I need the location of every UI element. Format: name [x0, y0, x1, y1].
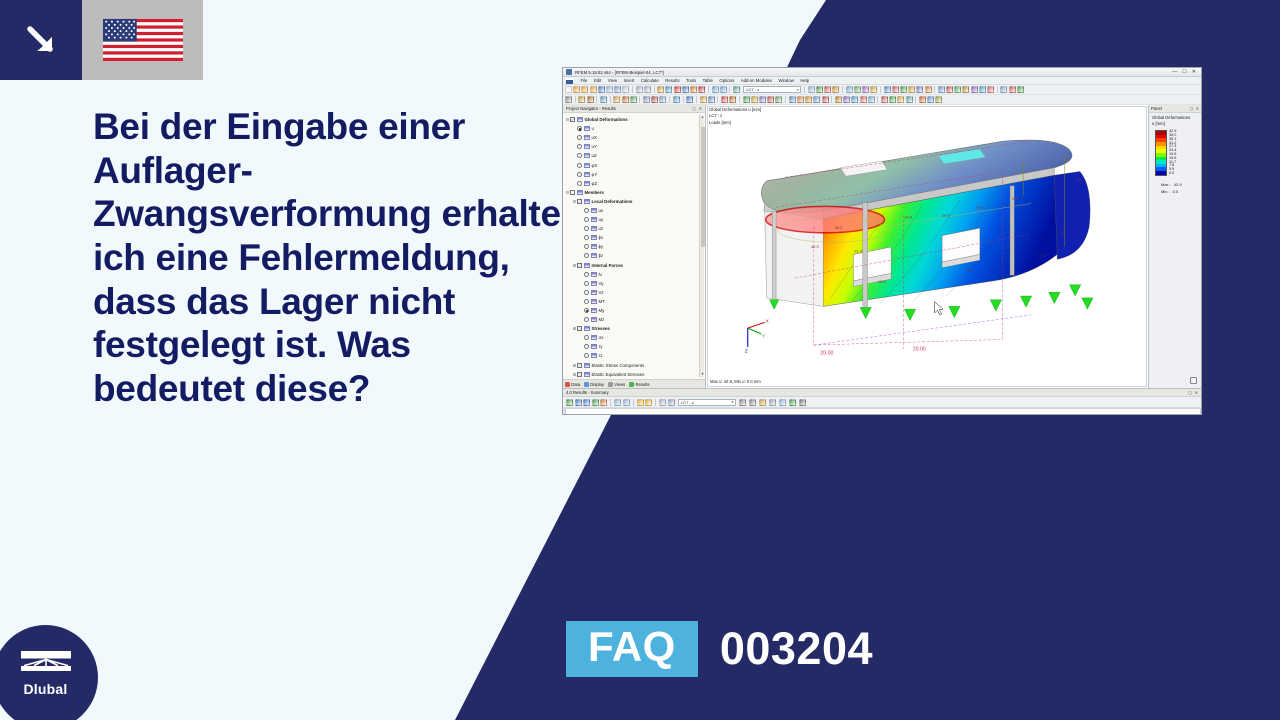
toolbar-button-icon[interactable] [565, 86, 572, 93]
toolbar-separator [610, 96, 611, 103]
tree-item-label: φY [592, 172, 598, 177]
tree-radio[interactable] [584, 344, 589, 349]
surface-icon [584, 153, 590, 158]
deformation-contour-model[interactable]: 20.00 20.00 38.3 34.6 29.9 28.2 16.1 3.4… [706, 113, 1148, 363]
tree-item--y[interactable]: ϕy [565, 242, 705, 251]
toolbar-button-icon[interactable] [908, 86, 915, 93]
window-title: RFEM 5.18.02 x64 - [RFEM-Beispiel-04, LC… [575, 70, 1172, 75]
table-close-icon[interactable]: ✕ [1195, 390, 1198, 395]
member-icon [584, 263, 590, 268]
scroll-down-arrow[interactable]: ▼ [700, 372, 705, 377]
results-table-header: 4.0 Results - Summary ◻ ✕ [563, 389, 1201, 397]
toolbar-button-icon[interactable] [987, 86, 994, 93]
tree-item--x[interactable]: ϕx [565, 233, 705, 242]
table-toolbar-button-icon[interactable] [637, 399, 644, 406]
toolbar-button-icon[interactable] [682, 86, 689, 93]
table-cells[interactable] [566, 408, 1201, 415]
toolbar-button-icon[interactable] [884, 86, 891, 93]
navigator-close-icon[interactable]: ✕ [699, 106, 702, 111]
toolbar-button-icon[interactable] [690, 86, 697, 93]
chevron-down-icon[interactable]: ▼ [796, 88, 799, 92]
tree-item--y[interactable]: φY [565, 170, 705, 179]
member-icon [591, 235, 597, 240]
surface-icon [584, 163, 590, 168]
tree-item-u[interactable]: u [565, 124, 705, 133]
force-icon [591, 308, 597, 313]
tree-radio[interactable] [584, 299, 589, 304]
panel-close-icon[interactable]: ✕ [1196, 106, 1199, 111]
tree-item-label: Elastic Equivalent Stresses [592, 372, 645, 377]
tree-radio[interactable] [577, 172, 582, 177]
tree-item-local-deformations[interactable]: ⊟Local Deformations [565, 197, 705, 206]
toolbar-button-icon[interactable] [824, 86, 831, 93]
tree-item--z[interactable]: ϕz [565, 251, 705, 260]
tree-item-label: Local Deformations [592, 199, 633, 204]
window-titlebar: RFEM 5.18.02 x64 - [RFEM-Beispiel-04, LC… [563, 68, 1201, 77]
tree-radio-selected[interactable] [577, 126, 582, 131]
svg-text:16.1: 16.1 [1012, 196, 1020, 201]
svg-text:38.3: 38.3 [835, 225, 843, 230]
toolbar-button-icon[interactable] [946, 86, 953, 93]
toolbar-button-icon[interactable] [938, 86, 945, 93]
tree-item-vy[interactable]: Vy [565, 279, 705, 288]
tree-checkbox[interactable] [577, 372, 582, 377]
member-icon [591, 208, 597, 213]
toolbar-button-icon[interactable] [889, 96, 896, 103]
svg-text:28.2: 28.2 [976, 205, 984, 210]
toolbar-button-icon[interactable] [657, 86, 664, 93]
toolbar-button-icon[interactable] [1017, 86, 1024, 93]
toolbar-separator [997, 86, 998, 93]
tree-item-global-deformations[interactable]: ⊟✓Global Deformations [565, 115, 705, 124]
window-controls[interactable]: — ☐ ✕ [1172, 70, 1196, 75]
toolbar-button-icon[interactable] [673, 96, 680, 103]
mouse-cursor [935, 302, 943, 315]
toolbar-separator [842, 86, 843, 93]
toolbar-loadcase-value: LC7 - z [746, 87, 759, 92]
toolbar-button-icon[interactable] [816, 86, 823, 93]
toolbar-separator [696, 96, 697, 103]
maximize-button[interactable]: ☐ [1182, 70, 1186, 75]
legend-scale: 42.939.035.131.227.323.419.515.611.77.83… [1149, 127, 1201, 176]
tree-radio[interactable] [584, 244, 589, 249]
member-icon [577, 190, 583, 195]
results-table-panel: 4.0 Results - Summary ◻ ✕ LC7 - z ▼ [563, 388, 1201, 415]
results-panel: Panel ◻ ✕ Global Deformations u [mm] 42.… [1149, 105, 1201, 388]
toolbar-separator [654, 86, 655, 93]
tree-item--z[interactable]: τz [565, 351, 705, 360]
toolbar-primary[interactable]: LC7 - z▼ [563, 85, 1201, 95]
navigator-tab-label: Display [590, 382, 604, 387]
toolbar-button-icon[interactable] [843, 96, 850, 103]
views-tab-icon [608, 382, 613, 387]
svg-text:9.3: 9.3 [967, 267, 973, 272]
tree-checkbox[interactable] [577, 263, 582, 268]
tree-radio[interactable] [584, 226, 589, 231]
tree-radio[interactable] [584, 290, 589, 295]
toolbar-button-icon[interactable] [573, 86, 580, 93]
menu-item-calculate[interactable]: Calculate [641, 78, 659, 83]
scroll-up-arrow[interactable]: ▲ [700, 115, 705, 120]
svg-text:40.9: 40.9 [811, 244, 819, 249]
tree-checkbox[interactable] [577, 363, 582, 368]
toolbar-button-icon[interactable] [622, 86, 629, 93]
table-pin-icon[interactable]: ◻ [1188, 390, 1191, 395]
toolbar-button-icon[interactable] [846, 86, 853, 93]
table-toolbar-button-icon[interactable] [614, 399, 621, 406]
toolbar-separator [655, 399, 656, 406]
navigator-tab-display[interactable]: Display [584, 382, 604, 387]
toolbar-button-icon[interactable] [851, 96, 858, 103]
tree-radio-selected[interactable] [584, 308, 589, 313]
close-button[interactable]: ✕ [1192, 70, 1196, 75]
toolbar-button-icon[interactable] [835, 96, 842, 103]
tree-item-label: Global Deformations [585, 117, 628, 122]
toolbar-button-icon[interactable] [578, 96, 585, 103]
toolbar-button-icon[interactable] [900, 86, 907, 93]
tree-item-uz[interactable]: uz [565, 224, 705, 233]
tree-item-internal-forces[interactable]: ⊞Internal Forces [565, 261, 705, 270]
tree-radio[interactable] [584, 253, 589, 258]
tree-item--x[interactable]: φX [565, 160, 705, 169]
force-icon [591, 272, 597, 277]
tree-item-my[interactable]: My [565, 306, 705, 315]
toolbar-button-icon[interactable] [743, 96, 750, 103]
toolbar-button-icon[interactable] [613, 96, 620, 103]
tree-item-label: Members [585, 190, 604, 195]
surface-icon [584, 135, 590, 140]
navigator-tab-data[interactable]: Data [565, 382, 580, 387]
menu-item-options[interactable]: Options [719, 78, 734, 83]
deformation-outline [814, 315, 1031, 345]
tree-item--z[interactable]: φZ [565, 179, 705, 188]
toolbar-button-icon[interactable] [665, 86, 672, 93]
tree-radio[interactable] [584, 208, 589, 213]
toolbar-button-icon[interactable] [808, 86, 815, 93]
table-toolbar-nav-icon[interactable] [789, 399, 796, 406]
toolbar-button-icon[interactable] [614, 86, 621, 93]
table-toolbar-nav-icon[interactable] [769, 399, 776, 406]
table-toolbar-button-icon[interactable] [600, 399, 607, 406]
tree-item-vz[interactable]: Vz [565, 288, 705, 297]
toolbar-button-icon[interactable] [979, 86, 986, 93]
navigator-title: Project Navigator - Results [566, 106, 616, 111]
table-toolbar-nav-icon[interactable] [739, 399, 746, 406]
table-toolbar-nav-icon[interactable] [749, 399, 756, 406]
minimize-button[interactable]: — [1172, 70, 1177, 75]
svg-text:21.4: 21.4 [854, 249, 862, 254]
toolbar-button-icon[interactable] [925, 86, 932, 93]
toolbar-separator [785, 96, 786, 103]
table-toolbar-nav-icon[interactable] [799, 399, 806, 406]
toolbar-button-icon[interactable] [860, 96, 867, 103]
toolbar-button-icon[interactable] [636, 86, 643, 93]
force-icon [591, 299, 597, 304]
toolbar-separator [632, 86, 633, 93]
tree-item-ux[interactable]: ux [565, 206, 705, 215]
tree-item-uy[interactable]: uy [565, 215, 705, 224]
results-table-loadcase-value: LC7 - z [681, 400, 694, 405]
navigator-tree[interactable]: ⊟✓Global DeformationsuuXuYuZφXφYφZ⊟Membe… [563, 113, 705, 379]
table-toolbar-button-icon[interactable] [575, 399, 582, 406]
results-table-title: 4.0 Results - Summary [566, 390, 609, 395]
tree-item-label: My [599, 308, 605, 313]
tree-checkbox[interactable] [577, 199, 582, 204]
navigator-tab-label: Views [614, 382, 625, 387]
toolbar-button-icon[interactable] [698, 86, 705, 93]
menu-logo-icon [566, 78, 573, 84]
menu-item-tools[interactable]: Tools [686, 78, 696, 83]
toolbar-button-icon[interactable] [1009, 86, 1016, 93]
table-toolbar-button-icon[interactable] [592, 399, 599, 406]
legend-min-value: 0.0 [1173, 188, 1179, 195]
toolbar-button-icon[interactable] [1000, 86, 1007, 93]
tree-radio[interactable] [584, 217, 589, 222]
dlubal-truss-icon [20, 650, 72, 678]
toolbar-button-icon[interactable] [822, 96, 829, 103]
toolbar-button-icon[interactable] [881, 96, 888, 103]
tree-checkbox[interactable] [570, 190, 575, 195]
legend-max-value: 42.9 [1174, 181, 1182, 188]
toolbar-button-icon[interactable] [686, 96, 693, 103]
toolbar-button-icon[interactable] [935, 96, 942, 103]
page-title: Bei der Eingabe einer Auflager-Zwangsver… [93, 105, 563, 411]
navigator-tab-label: Results [635, 382, 649, 387]
toolbar-separator [596, 96, 597, 103]
menu-item-results[interactable]: Results [665, 78, 679, 83]
toolbar-separator [633, 399, 634, 406]
toolbar-separator [934, 86, 935, 93]
tree-radio[interactable] [584, 353, 589, 358]
table-toolbar-button-icon[interactable] [659, 399, 666, 406]
force-icon [591, 281, 597, 286]
toolbar-button-icon[interactable] [600, 96, 607, 103]
toolbar-button-icon[interactable] [962, 86, 969, 93]
toolbar-button-icon[interactable] [767, 96, 774, 103]
toolbar-button-icon[interactable] [622, 96, 629, 103]
navigator-header-buttons[interactable]: ◻ ✕ [692, 106, 702, 111]
tree-radio[interactable] [577, 163, 582, 168]
menu-item-window[interactable]: Window [779, 78, 794, 83]
toolbar-button-icon[interactable] [862, 86, 869, 93]
toolbar-button-icon[interactable] [906, 96, 913, 103]
toolbar-button-icon[interactable] [721, 96, 728, 103]
navigator-pin-icon[interactable]: ◻ [692, 106, 695, 111]
legend-color-segment [1156, 171, 1166, 175]
panel-pin-icon[interactable]: ◻ [1190, 106, 1193, 111]
toolbar-button-icon[interactable] [720, 86, 727, 93]
toolbar-button-icon[interactable] [870, 86, 877, 93]
member-icon [584, 326, 590, 331]
toolbar-button-icon[interactable] [606, 86, 613, 93]
toolbar-button-icon[interactable] [643, 96, 650, 103]
toolbar-button-icon[interactable] [854, 86, 861, 93]
toolbar-button-icon[interactable] [797, 96, 804, 103]
tree-item-stresses[interactable]: ⊞Stresses [565, 324, 705, 333]
surface-icon [584, 144, 590, 149]
scroll-thumb[interactable] [701, 127, 705, 247]
tree-item-uz[interactable]: uZ [565, 151, 705, 160]
toolbar-button-icon[interactable] [916, 86, 923, 93]
tree-radio[interactable] [584, 235, 589, 240]
toolbar-separator [915, 96, 916, 103]
toolbar-button-icon[interactable] [832, 86, 839, 93]
tree-item-label: uZ [592, 153, 597, 158]
menu-item-addon-modules[interactable]: Add-on Modules [741, 78, 772, 83]
table-toolbar-button-icon[interactable] [566, 399, 573, 406]
member-icon [584, 372, 590, 377]
menu-item-view[interactable]: View [608, 78, 617, 83]
tree-item-ux[interactable]: uX [565, 133, 705, 142]
menu-item-file[interactable]: File [581, 78, 588, 83]
tree-checkbox-checked[interactable]: ✓ [570, 117, 575, 122]
tree-item-label: φX [592, 163, 598, 168]
toolbar-button-icon[interactable] [565, 96, 572, 103]
legend-tick-labels: 42.939.035.131.227.323.419.515.611.77.83… [1169, 130, 1176, 176]
results-table-toolbar[interactable]: LC7 - z ▼ [563, 397, 1201, 408]
results-table-grid[interactable] [563, 408, 1201, 415]
axis-x-label: X [766, 318, 770, 323]
menubar[interactable]: File Edit View Insert Calculate Results … [563, 77, 1201, 85]
toolbar-button-icon[interactable] [630, 96, 637, 103]
menu-item-table[interactable]: Table [703, 78, 713, 83]
tree-item-n[interactable]: N [565, 270, 705, 279]
tree-radio[interactable] [577, 153, 582, 158]
tree-item-elastic-equivalent-stresses[interactable]: ⊞Elastic Equivalent Stresses [565, 370, 705, 379]
tree-item-label: u [592, 126, 594, 131]
surface-icon [584, 172, 590, 177]
tree-radio[interactable] [584, 281, 589, 286]
toolbar-button-icon[interactable] [712, 86, 719, 93]
panel-header-buttons[interactable]: ◻ ✕ [1190, 106, 1199, 111]
tree-item-label: uz [599, 226, 604, 231]
toolbar-button-icon[interactable] [805, 96, 812, 103]
model-viewport[interactable]: Global Deformations u [mm] LC7 : z Loads… [706, 105, 1149, 388]
dimension-label-1: 20.00 [820, 351, 833, 357]
toolbar-button-icon[interactable] [927, 96, 934, 103]
toolbar-button-icon[interactable] [759, 96, 766, 103]
navigator-tab-views[interactable]: Views [608, 382, 625, 387]
toolbar-button-icon[interactable] [659, 96, 666, 103]
toolbar-button-icon[interactable] [598, 86, 605, 93]
tree-radio[interactable] [577, 144, 582, 149]
toolbar-separator [683, 96, 684, 103]
toolbar-button-icon[interactable] [651, 96, 658, 103]
toolbar-loadcase-combo[interactable]: LC7 - z▼ [743, 86, 801, 93]
dlubal-wordmark: Dlubal [24, 681, 68, 697]
toolbar-button-icon[interactable] [733, 86, 740, 93]
app-icon [566, 69, 572, 75]
tree-item-uy[interactable]: uY [565, 142, 705, 151]
tree-item--y[interactable]: τy [565, 342, 705, 351]
table-toolbar-button-icon[interactable] [668, 399, 675, 406]
tree-item--x[interactable]: σx [565, 333, 705, 342]
tree-item-label: Mz [599, 317, 605, 322]
table-toolbar-button-icon[interactable] [623, 399, 630, 406]
toolbar-button-icon[interactable] [700, 96, 707, 103]
tree-radio[interactable] [584, 335, 589, 340]
toolbar-button-icon[interactable] [868, 96, 875, 103]
rfem-application-window: RFEM 5.18.02 x64 - [RFEM-Beispiel-04, LC… [562, 67, 1202, 415]
toolbar-button-icon[interactable] [789, 96, 796, 103]
tree-item-label: Stresses [592, 326, 610, 331]
tree-item-label: ϕx [599, 235, 604, 240]
table-toolbar-button-icon[interactable] [583, 399, 590, 406]
tree-item-label: σx [599, 335, 604, 340]
toolbar-secondary[interactable] [563, 95, 1201, 105]
menu-item-help[interactable]: Help [800, 78, 809, 83]
tree-radio[interactable] [577, 181, 582, 186]
tree-item-members[interactable]: ⊟Members [565, 188, 705, 197]
toolbar-button-icon[interactable] [587, 96, 594, 103]
toolbar-button-icon[interactable] [644, 86, 651, 93]
toolbar-button-icon[interactable] [674, 86, 681, 93]
tree-item-label: τy [599, 344, 603, 349]
svg-text:29.9: 29.9 [942, 213, 950, 218]
table-toolbar-button-icon[interactable] [645, 399, 652, 406]
toolbar-button-icon[interactable] [813, 96, 820, 103]
display-tab-icon [584, 382, 589, 387]
toolbar-button-icon[interactable] [708, 96, 715, 103]
toolbar-button-icon[interactable] [590, 86, 597, 93]
toolbar-separator [877, 96, 878, 103]
toolbar-button-icon[interactable] [954, 86, 961, 93]
toolbar-button-icon[interactable] [892, 86, 899, 93]
table-toolbar-nav-icon[interactable] [779, 399, 786, 406]
toolbar-separator [880, 86, 881, 93]
menu-item-edit[interactable]: Edit [594, 78, 601, 83]
navigator-scrollbar[interactable]: ▲ ▼ [699, 115, 704, 377]
force-icon [591, 317, 597, 322]
toolbar-button-icon[interactable] [729, 96, 736, 103]
tree-item-mt[interactable]: MT [565, 297, 705, 306]
menu-item-insert[interactable]: Insert [624, 78, 635, 83]
toolbar-button-icon[interactable] [775, 96, 782, 103]
legend-min-label: Min : [1161, 188, 1170, 195]
tree-item-label: ϕz [599, 253, 604, 258]
axis-z-label: Z [745, 349, 748, 354]
toolbar-button-icon[interactable] [897, 96, 904, 103]
usa-flag-icon [82, 0, 203, 80]
results-table-loadcase-combo[interactable]: LC7 - z ▼ [678, 399, 736, 406]
results-table-header-buttons[interactable]: ◻ ✕ [1188, 390, 1198, 395]
chevron-down-icon[interactable]: ▼ [731, 400, 734, 404]
navigator-header: Project Navigator - Results ◻ ✕ [563, 105, 705, 113]
member-icon [591, 226, 597, 231]
toolbar-separator [575, 96, 576, 103]
table-toolbar-nav-icon[interactable] [759, 399, 766, 406]
toolbar-button-icon[interactable] [971, 86, 978, 93]
tree-radio[interactable] [584, 272, 589, 277]
toolbar-separator [669, 96, 670, 103]
tree-checkbox[interactable] [577, 326, 582, 331]
tree-radio[interactable] [584, 317, 589, 322]
surface-icon [584, 181, 590, 186]
panel-zoom-button[interactable] [1190, 377, 1197, 384]
arrow-down-right-icon [0, 0, 82, 80]
navigator-tabs[interactable]: Data Display Views Results [563, 379, 705, 388]
toolbar-button-icon[interactable] [581, 86, 588, 93]
navigator-tab-results[interactable]: Results [629, 382, 649, 387]
tree-item-elastic-stress-components[interactable]: ⊞Elastic Stress Components [565, 361, 705, 370]
legend-heading: Global Deformations u [mm] [1149, 113, 1201, 127]
surface-icon [584, 126, 590, 131]
tree-item-mz[interactable]: Mz [565, 315, 705, 324]
panel-title: Panel [1151, 106, 1162, 111]
tree-radio[interactable] [577, 135, 582, 140]
toolbar-button-icon[interactable] [919, 96, 926, 103]
toolbar-button-icon[interactable] [751, 96, 758, 103]
